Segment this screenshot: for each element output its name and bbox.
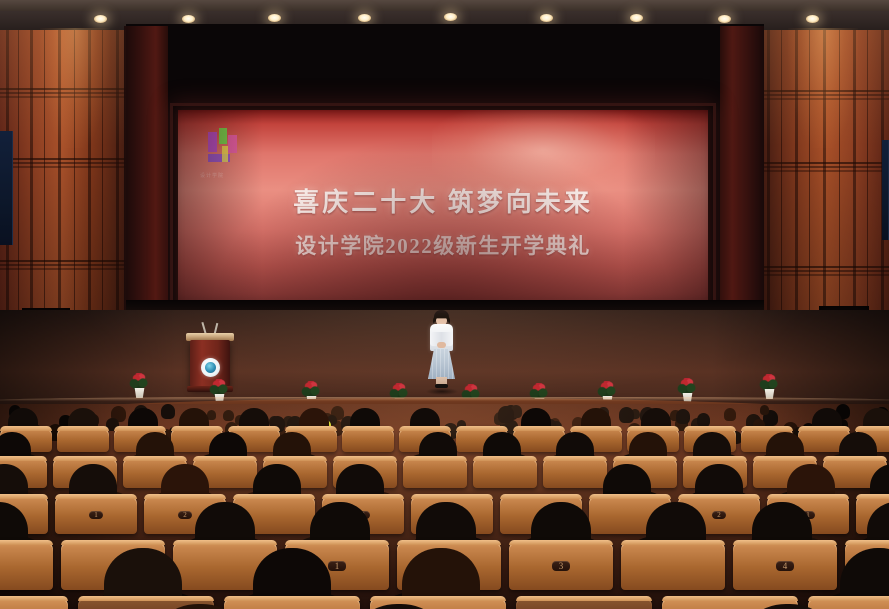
seat-top-rail (370, 596, 506, 601)
seat-top-rail (684, 426, 736, 431)
seat-top-rail (333, 456, 397, 461)
side-wall-display-panel (0, 131, 13, 245)
theater-seat[interactable] (473, 456, 537, 488)
seat-top-rail (57, 426, 109, 431)
theater-seat[interactable] (224, 596, 360, 609)
audience-member (619, 407, 634, 423)
seat-top-rail (224, 596, 360, 601)
seat-top-rail (285, 540, 389, 545)
audience-member (760, 405, 770, 415)
theater-seat[interactable]: 4 (733, 540, 837, 590)
ceiling-front-face (0, 0, 889, 11)
seat-top-rail (589, 494, 671, 499)
seat-top-rail (228, 426, 280, 431)
seat-top-rail (61, 540, 165, 545)
theater-seat[interactable] (808, 596, 889, 609)
theater-seat[interactable] (342, 426, 394, 452)
seat-top-rail (411, 494, 493, 499)
ceiling-downlight (444, 13, 457, 21)
seat-top-rail (678, 494, 760, 499)
audience-member (498, 406, 513, 422)
audience-member (697, 413, 710, 427)
seat-top-rail (0, 426, 52, 431)
side-wall-display-panel (882, 140, 889, 240)
seat-top-rail (397, 540, 501, 545)
seat-top-rail (627, 426, 679, 431)
seat-top-rail (399, 426, 451, 431)
audience-member (161, 404, 175, 418)
seat-top-rail (823, 456, 887, 461)
seating-row: 21 (0, 596, 889, 609)
seat-top-rail (845, 540, 889, 545)
seat-number-plate: 2 (712, 511, 726, 519)
seat-top-rail (55, 494, 137, 499)
seat-top-rail (613, 456, 677, 461)
seat-top-rail (193, 456, 257, 461)
seat-top-rail (683, 456, 747, 461)
seat-top-rail (0, 494, 48, 499)
seat-top-rail (767, 494, 849, 499)
seat-top-rail (509, 540, 613, 545)
seat-top-rail (516, 596, 652, 601)
audience-member (724, 408, 736, 421)
seat-top-rail (753, 456, 817, 461)
seat-top-rail (808, 596, 889, 601)
seat-top-rail (233, 494, 315, 499)
seat-top-rail (171, 426, 223, 431)
potted-flower (758, 373, 780, 399)
seat-top-rail (263, 456, 327, 461)
theater-seat[interactable] (0, 540, 53, 590)
audience-member (223, 410, 234, 421)
theater-seat[interactable] (543, 456, 607, 488)
seat-number-plate: 3 (552, 561, 570, 571)
theater-seat[interactable]: 1 (55, 494, 137, 534)
audience-member (676, 409, 690, 424)
seat-top-rail (342, 426, 394, 431)
seat-top-rail (0, 596, 68, 601)
theater-seat[interactable] (403, 456, 467, 488)
seat-top-rail (322, 494, 404, 499)
seat-top-rail (114, 426, 166, 431)
seat-top-rail (0, 540, 53, 545)
theater-seat[interactable] (621, 540, 725, 590)
seat-top-rail (798, 426, 850, 431)
seat-top-rail (144, 494, 226, 499)
seat-top-rail (662, 596, 798, 601)
seat-top-rail (621, 540, 725, 545)
theater-seat[interactable] (0, 596, 68, 609)
seat-top-rail (403, 456, 467, 461)
theater-seat[interactable]: 1 (516, 596, 652, 609)
seat-top-rail (856, 494, 889, 499)
seat-top-rail (473, 456, 537, 461)
theater-seat[interactable] (57, 426, 109, 452)
seat-top-rail (0, 456, 47, 461)
potted-flower (128, 372, 150, 398)
seat-top-rail (285, 426, 337, 431)
screen-frame (170, 103, 716, 317)
seat-number-plate: 2 (178, 511, 192, 519)
ceiling-downlight (182, 15, 195, 23)
seat-top-rail (173, 540, 277, 545)
seat-top-rail (456, 426, 508, 431)
school-crest-icon (201, 358, 220, 377)
seat-top-rail (500, 494, 582, 499)
host-on-stage (424, 310, 458, 392)
seat-number-plate: 1 (89, 511, 103, 519)
seat-top-rail (733, 540, 837, 545)
auditorium-photo: 设计学院 喜庆二十大 筑梦向未来 设计学院2022级新生开学典礼 1 (0, 0, 889, 609)
seat-top-rail (570, 426, 622, 431)
audience-seating: 123421312342131 (0, 404, 889, 609)
ceiling-downlight (358, 14, 371, 22)
seat-top-rail (513, 426, 565, 431)
seat-top-rail (53, 456, 117, 461)
seat-top-rail (543, 456, 607, 461)
seat-top-rail (741, 426, 793, 431)
ceiling-downlight (540, 14, 553, 22)
seat-number-plate: 1 (328, 561, 346, 571)
theater-seat[interactable]: 3 (509, 540, 613, 590)
seat-top-rail (123, 456, 187, 461)
seat-number-plate: 4 (776, 561, 794, 571)
seat-top-rail (855, 426, 889, 431)
seat-top-rail (78, 596, 214, 601)
ceiling-downlight (718, 15, 731, 23)
stage-front-edge-highlight (0, 397, 889, 401)
